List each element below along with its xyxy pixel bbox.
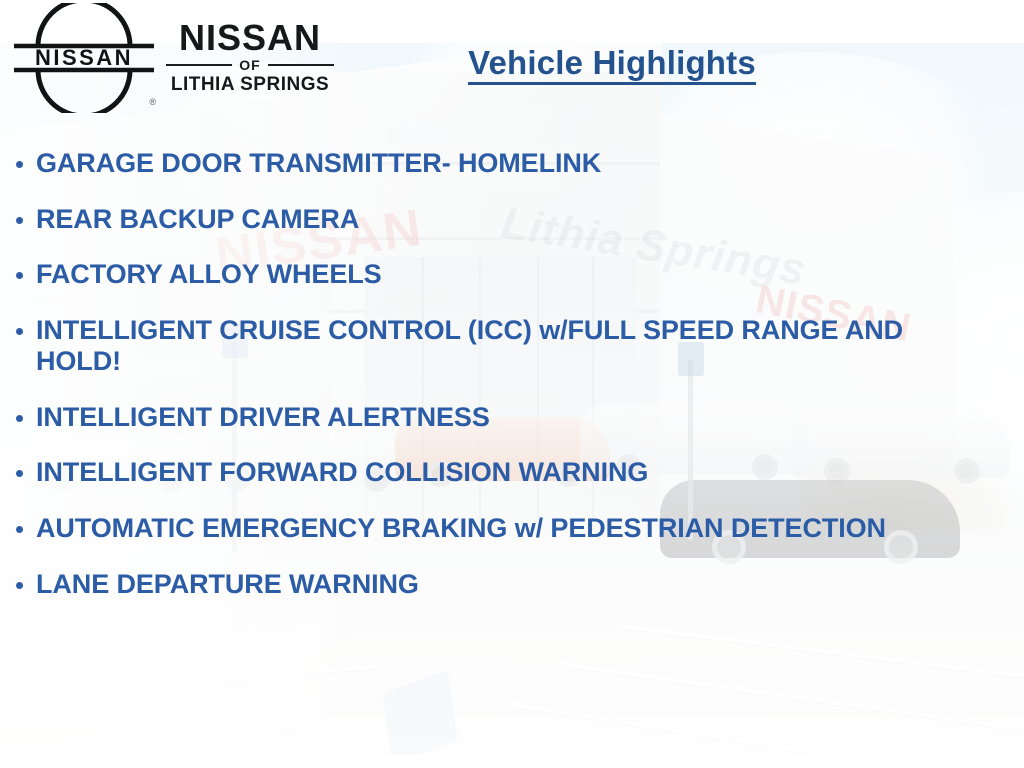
highlight-item: AUTOMATIC EMERGENCY BRAKING w/ PEDESTRIA… — [0, 513, 980, 545]
page-title: Vehicle Highlights — [0, 44, 1024, 82]
highlight-item-label: INTELLIGENT FORWARD COLLISION WARNING — [36, 457, 648, 487]
highlight-item-label: FACTORY ALLOY WHEELS — [36, 259, 382, 289]
lot-stripe — [0, 725, 300, 750]
bullet-dot-icon — [16, 272, 23, 279]
highlight-item-label: REAR BACKUP CAMERA — [36, 204, 359, 234]
page-title-text: Vehicle Highlights — [468, 44, 756, 85]
bullet-dot-icon — [16, 328, 23, 335]
lot-stripe — [21, 664, 380, 699]
bullet-dot-icon — [16, 217, 23, 224]
highlight-item: FACTORY ALLOY WHEELS — [0, 259, 980, 291]
highlight-item: INTELLIGENT CRUISE CONTROL (ICC) w/FULL … — [0, 315, 980, 378]
highlight-item-label: INTELLIGENT DRIVER ALERTNESS — [36, 402, 490, 432]
highlight-item-label: GARAGE DOOR TRANSMITTER- HOMELINK — [36, 148, 601, 178]
highlight-item: REAR BACKUP CAMERA — [0, 204, 980, 236]
bullet-dot-icon — [16, 415, 23, 422]
lot-stripe — [621, 624, 1024, 679]
highlight-item: INTELLIGENT DRIVER ALERTNESS — [0, 402, 980, 434]
highlight-item-label: INTELLIGENT CRUISE CONTROL (ICC) w/FULL … — [36, 315, 903, 377]
bottom-white-band — [0, 755, 1024, 768]
lot-stripe — [503, 701, 1017, 755]
bullet-dot-icon — [16, 470, 23, 477]
bullet-dot-icon — [16, 161, 23, 168]
bullet-dot-icon — [16, 526, 23, 533]
highlight-item-label: LANE DEPARTURE WARNING — [36, 569, 419, 599]
highlight-item: INTELLIGENT FORWARD COLLISION WARNING — [0, 457, 980, 489]
highlight-item: GARAGE DOOR TRANSMITTER- HOMELINK — [0, 148, 980, 180]
vehicle-highlights-list: GARAGE DOOR TRANSMITTER- HOMELINKREAR BA… — [0, 148, 980, 624]
highlight-item-label: AUTOMATIC EMERGENCY BRAKING w/ PEDESTRIA… — [36, 513, 886, 543]
vehicle-highlights-slide: NISSAN Lithia Springs NISSAN — [0, 0, 1024, 768]
highlight-item: LANE DEPARTURE WARNING — [0, 569, 980, 601]
registered-trademark-icon: ® — [149, 97, 156, 107]
bullet-dot-icon — [16, 582, 23, 589]
